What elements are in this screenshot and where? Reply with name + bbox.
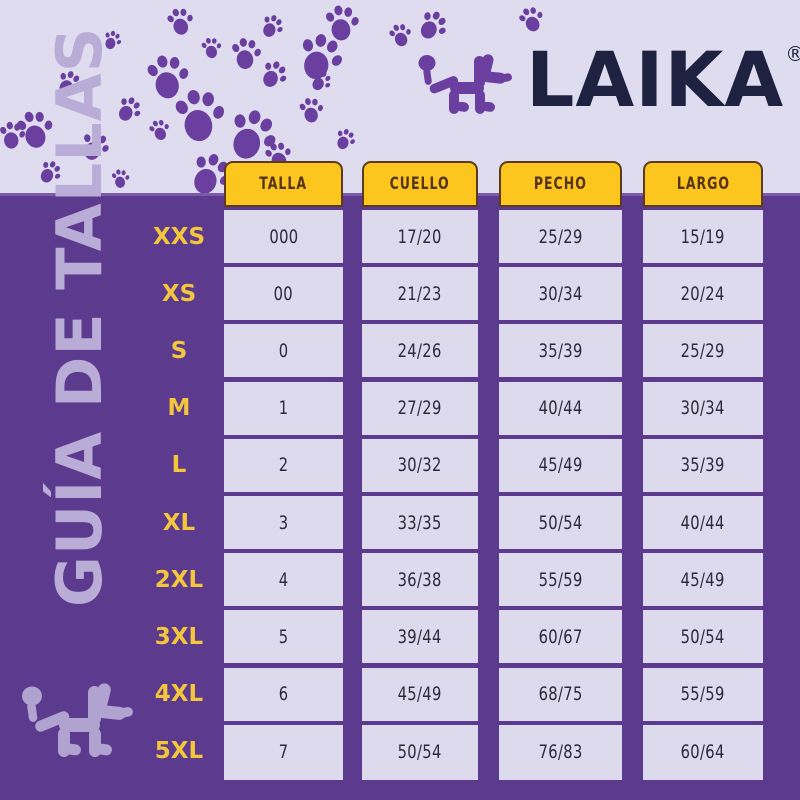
- brand-logo: LAIKA ®: [412, 38, 790, 122]
- cell-value: 60/64: [681, 741, 725, 763]
- table-cell: 15/19: [643, 210, 763, 265]
- paw-print-icon: [199, 33, 225, 60]
- table-cell: 21/23: [362, 267, 478, 322]
- cell-value: 35/39: [681, 454, 725, 476]
- cell-value: 0: [279, 340, 289, 362]
- cell-value: 3: [279, 512, 289, 534]
- table-cell: 3: [224, 496, 343, 551]
- table-cell: 55/59: [499, 553, 622, 608]
- table-cell: 30/32: [362, 439, 478, 494]
- cell-value: 27/29: [398, 397, 442, 419]
- cell-value: 15/19: [681, 226, 725, 248]
- table-cell: 76/83: [499, 725, 622, 780]
- page-title: GUÍA DE TALLAS: [49, 147, 111, 607]
- size-label-3xl: 3XL: [140, 626, 218, 649]
- cell-value: 45/49: [681, 569, 725, 591]
- cell-value: 50/54: [681, 626, 725, 648]
- size-label-xs: XS: [140, 283, 218, 306]
- cell-value: 25/29: [538, 226, 582, 248]
- cell-value: 50/54: [398, 741, 442, 763]
- cell-value: 1: [279, 397, 289, 419]
- size-label-xxs: XXS: [140, 226, 218, 249]
- size-label-5xl: 5XL: [140, 740, 218, 763]
- brand-name: LAIKA: [526, 35, 784, 124]
- registered-mark-icon: ®: [785, 44, 800, 64]
- cell-value: 2: [279, 454, 289, 476]
- table-cell: 0: [224, 324, 343, 379]
- column-header-largo: LARGO: [643, 161, 763, 207]
- paw-print-icon: [0, 118, 28, 150]
- table-cell: 60/67: [499, 610, 622, 665]
- column-header-label: LARGO: [676, 174, 729, 194]
- brand-wordmark: LAIKA ®: [526, 42, 790, 118]
- column-header-cuello: CUELLO: [362, 161, 478, 207]
- table-cell: 50/54: [499, 496, 622, 551]
- table-cell: 68/75: [499, 668, 622, 723]
- balloon-dog-icon: [412, 42, 516, 118]
- paw-print-icon: [259, 11, 287, 41]
- cell-value: 40/44: [681, 512, 725, 534]
- cell-value: 7: [279, 741, 289, 763]
- cell-value: 50/54: [538, 512, 582, 534]
- cell-value: 36/38: [398, 569, 442, 591]
- column-header-label: PECHO: [534, 174, 587, 194]
- paw-print-icon: [171, 81, 231, 145]
- table-cell: 36/38: [362, 553, 478, 608]
- table-cell: 45/49: [362, 668, 478, 723]
- table-cell: 25/29: [499, 210, 622, 265]
- table-column-pecho: PECHO25/2930/3435/3940/4445/4950/5455/59…: [499, 196, 622, 800]
- cell-value: 21/23: [398, 283, 442, 305]
- cell-value: 20/24: [681, 283, 725, 305]
- table-cell: 5: [224, 610, 343, 665]
- size-label-column: XXSXSSMLXL2XL3XL4XL5XL: [140, 196, 218, 800]
- table-cell: 30/34: [499, 267, 622, 322]
- table-cell: 50/54: [362, 725, 478, 780]
- paw-print-icon: [334, 126, 359, 152]
- size-label-l: L: [140, 454, 218, 477]
- cell-value: 55/59: [681, 683, 725, 705]
- cell-value: 76/83: [538, 741, 582, 763]
- body-panel: GUÍA DE TALLAS XXSXSSMLXL2XL3X: [0, 196, 800, 800]
- cell-value: 000: [269, 226, 298, 248]
- cell-value: 5: [279, 626, 289, 648]
- column-header-label: CUELLO: [390, 174, 450, 194]
- table-cell: 55/59: [643, 668, 763, 723]
- table-cell: 2: [224, 439, 343, 494]
- cell-value: 45/49: [538, 454, 582, 476]
- table-cell: 00: [224, 267, 343, 322]
- table-cell: 45/49: [499, 439, 622, 494]
- table-cell: 4: [224, 553, 343, 608]
- size-label-2xl: 2XL: [140, 569, 218, 592]
- table-cell: 35/39: [643, 439, 763, 494]
- sidebar: GUÍA DE TALLAS XXSXSSMLXL2XL3X: [0, 196, 218, 800]
- table-cell: 39/44: [362, 610, 478, 665]
- size-table: TALLA0000001234567CUELLO17/2021/2324/262…: [218, 196, 800, 800]
- cell-value: 60/67: [538, 626, 582, 648]
- table-column-talla: TALLA0000001234567: [224, 196, 343, 800]
- table-cell: 7: [224, 725, 343, 780]
- paw-print-icon: [146, 115, 174, 144]
- paw-print-icon: [297, 93, 327, 125]
- cell-value: 4: [279, 569, 289, 591]
- table-cell: 35/39: [499, 324, 622, 379]
- size-label-xl: XL: [140, 512, 218, 535]
- cell-value: 25/29: [681, 340, 725, 362]
- table-cell: 000: [224, 210, 343, 265]
- table-cell: 1: [224, 382, 343, 437]
- table-cell: 40/44: [499, 382, 622, 437]
- cell-value: 6: [279, 683, 289, 705]
- paw-print-icon: [515, 1, 549, 36]
- table-cell: 40/44: [643, 496, 763, 551]
- table-cell: 27/29: [362, 382, 478, 437]
- cell-value: 17/20: [398, 226, 442, 248]
- table-cell: 25/29: [643, 324, 763, 379]
- cell-value: 45/49: [398, 683, 442, 705]
- table-cell: 30/34: [643, 382, 763, 437]
- size-label-s: S: [140, 340, 218, 363]
- size-label-m: M: [140, 397, 218, 420]
- table-cell: 20/24: [643, 267, 763, 322]
- table-cell: 24/26: [362, 324, 478, 379]
- cell-value: 30/34: [681, 397, 725, 419]
- table-cell: 6: [224, 668, 343, 723]
- cell-value: 30/34: [538, 283, 582, 305]
- cell-value: 55/59: [538, 569, 582, 591]
- column-header-pecho: PECHO: [499, 161, 622, 207]
- paw-print-icon: [164, 2, 199, 38]
- table-cell: 50/54: [643, 610, 763, 665]
- table-cell: 60/64: [643, 725, 763, 780]
- cell-value: 39/44: [398, 626, 442, 648]
- cell-value: 30/32: [398, 454, 442, 476]
- cell-value: 24/26: [398, 340, 442, 362]
- cell-value: 00: [274, 283, 293, 305]
- column-header-label: TALLA: [260, 174, 308, 194]
- cell-value: 33/35: [398, 512, 442, 534]
- table-cell: 17/20: [362, 210, 478, 265]
- table-column-largo: LARGO15/1920/2425/2930/3435/3940/4445/49…: [643, 196, 763, 800]
- paw-print-icon: [114, 92, 146, 125]
- size-guide-page: LAIKA ® GUÍA DE TALLAS: [0, 0, 800, 800]
- cell-value: 68/75: [538, 683, 582, 705]
- table-cell: 45/49: [643, 553, 763, 608]
- cell-value: 35/39: [538, 340, 582, 362]
- column-header-talla: TALLA: [224, 161, 343, 207]
- cell-value: 40/44: [538, 397, 582, 419]
- paw-print-icon: [230, 34, 264, 71]
- table-column-cuello: CUELLO17/2021/2324/2627/2930/3233/3536/3…: [362, 196, 478, 800]
- table-cell: 33/35: [362, 496, 478, 551]
- balloon-dog-icon: [12, 666, 138, 762]
- size-label-4xl: 4XL: [140, 683, 218, 706]
